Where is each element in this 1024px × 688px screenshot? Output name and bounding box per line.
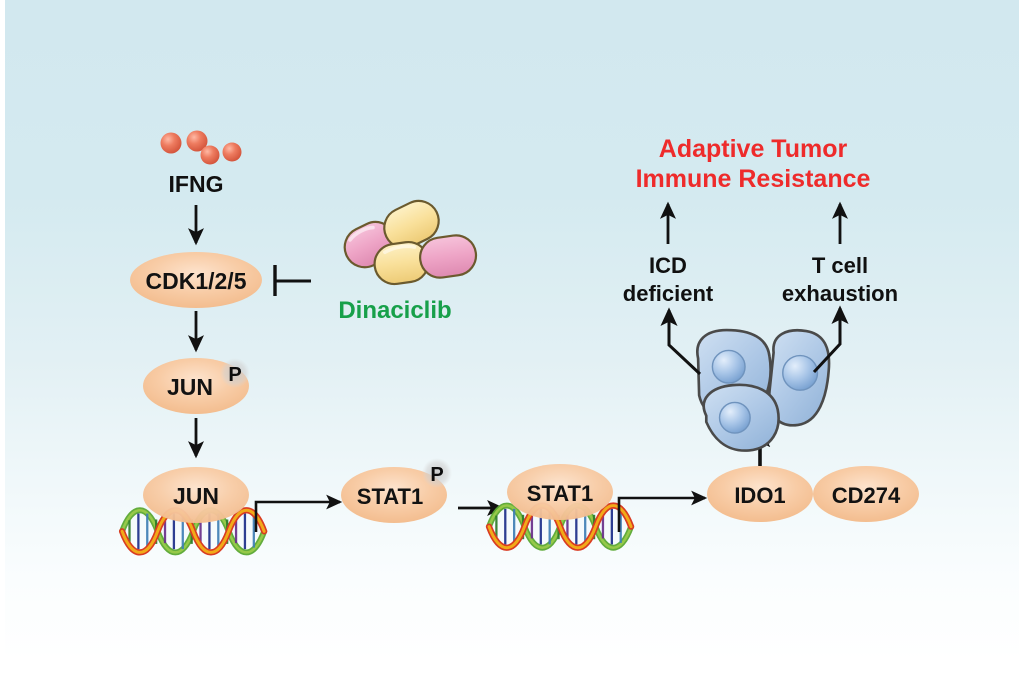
- node-stat1-phospho[interactable]: STAT1 P: [341, 458, 452, 523]
- node-cdk125-label: CDK1/2/5: [146, 268, 247, 294]
- phospho-badge-jun-label: P: [228, 364, 241, 386]
- node-ido1[interactable]: IDO1: [707, 466, 813, 522]
- node-cd274-label: CD274: [832, 483, 901, 508]
- resistance-title-line1: Adaptive Tumor: [659, 135, 848, 163]
- node-jun-dna[interactable]: JUN: [143, 467, 249, 523]
- exhaustion-line2: exhaustion: [782, 281, 898, 306]
- outcome-icd-deficient: ICD deficient: [623, 253, 714, 306]
- node-cdk125[interactable]: CDK1/2/5: [130, 252, 262, 308]
- node-jun-dna-label: JUN: [173, 483, 219, 509]
- pathway-figure: IFNG CDK1/2/5 Dinaciclib: [0, 0, 1024, 688]
- node-stat1-dna-label: STAT1: [527, 481, 593, 506]
- arrow-transcription-jun: [256, 502, 340, 532]
- phospho-badge-jun: P: [220, 358, 250, 388]
- node-ido1-label: IDO1: [734, 483, 785, 508]
- outcome-t-cell-exhaustion: T cell exhaustion: [782, 253, 898, 306]
- tumor-cell-cluster-icon: [697, 330, 829, 451]
- diagram-canvas: IFNG CDK1/2/5 Dinaciclib: [0, 0, 1024, 688]
- node-jun-phospho-label: JUN: [167, 374, 213, 400]
- arrow-cells-to-icd: [669, 310, 700, 374]
- icd-line1: ICD: [649, 253, 687, 278]
- node-cd274[interactable]: CD274: [813, 466, 919, 522]
- phospho-badge-stat1-label: P: [430, 464, 443, 486]
- node-stat1-dna[interactable]: STAT1: [507, 464, 613, 520]
- resistance-title: Adaptive Tumor Immune Resistance: [636, 135, 871, 193]
- resistance-title-line2: Immune Resistance: [636, 165, 871, 193]
- phospho-badge-stat1: P: [422, 458, 452, 488]
- icd-line2: deficient: [623, 281, 714, 306]
- ifng-label: IFNG: [169, 171, 224, 197]
- node-jun-phospho[interactable]: JUN P: [143, 358, 250, 414]
- exhaustion-line1: T cell: [812, 253, 868, 278]
- node-stat1-phospho-label: STAT1: [357, 484, 423, 509]
- dinaciclib-label: Dinaciclib: [338, 297, 451, 324]
- ifng-ligand-icon: [161, 131, 242, 165]
- dinaciclib-pill-icon: [338, 194, 479, 286]
- inhibition-cdk125: [275, 265, 311, 296]
